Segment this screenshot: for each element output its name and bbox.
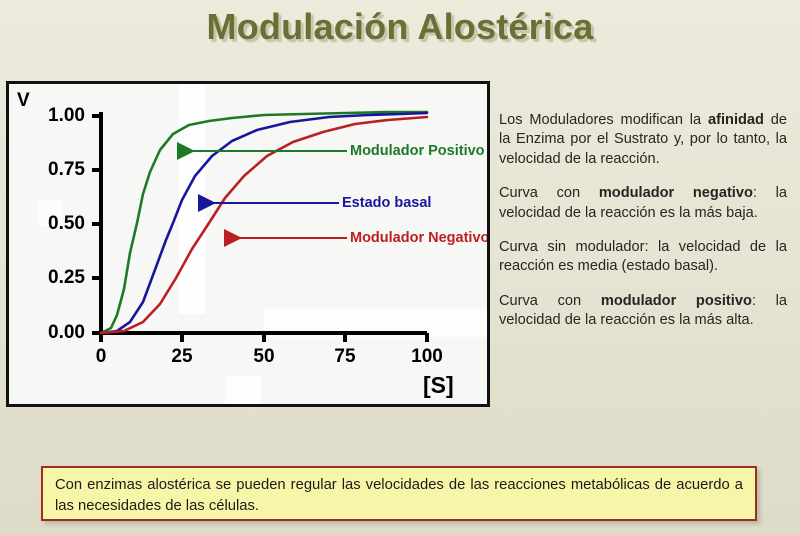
x-tick-label: 50: [241, 346, 287, 368]
x-tick-label: 0: [78, 346, 124, 368]
paragraph-moduladores-afinidad: Los Moduladores modifican la afinidad de…: [499, 111, 787, 169]
chart-panel: 1.00 0.75 0.50 0.25 0.00 0 25 50 75 100 …: [6, 81, 490, 407]
paragraph-modulador-negativo: Curva con modulador negativo: la velocid…: [499, 184, 787, 223]
paragraph-modulador-positivo: Curva con modulador positivo: la velocid…: [499, 292, 787, 331]
page-title: Modulación Alostérica: [0, 6, 800, 48]
x-tick-label: 25: [159, 346, 205, 368]
paragraph-sin-modulador: Curva sin modulador: la velocidad de la …: [499, 238, 787, 277]
x-tick-label: 75: [322, 346, 368, 368]
y-axis-title: V: [17, 90, 30, 112]
y-tick-label: 0.25: [9, 267, 85, 289]
x-tick-label: 100: [404, 346, 450, 368]
slide-background: Modulación Alostérica: [0, 0, 800, 535]
explanation-text-column: Los Moduladores modifican la afinidad de…: [499, 111, 787, 331]
legend-label-modulador-negativo: Modulador Negativo: [350, 230, 489, 246]
legend-label-estado-basal: Estado basal: [342, 195, 431, 211]
summary-callout-box: Con enzimas alostérica se pueden regular…: [41, 466, 757, 521]
x-axis-title: [S]: [423, 372, 454, 399]
y-tick-label: 0.50: [9, 213, 85, 235]
legend-label-modulador-positivo: Modulador Positivo: [350, 143, 485, 159]
y-tick-label: 0.00: [9, 322, 85, 344]
y-tick-label: 0.75: [9, 159, 85, 181]
callout-text: Con enzimas alostérica se pueden regular…: [55, 475, 743, 517]
